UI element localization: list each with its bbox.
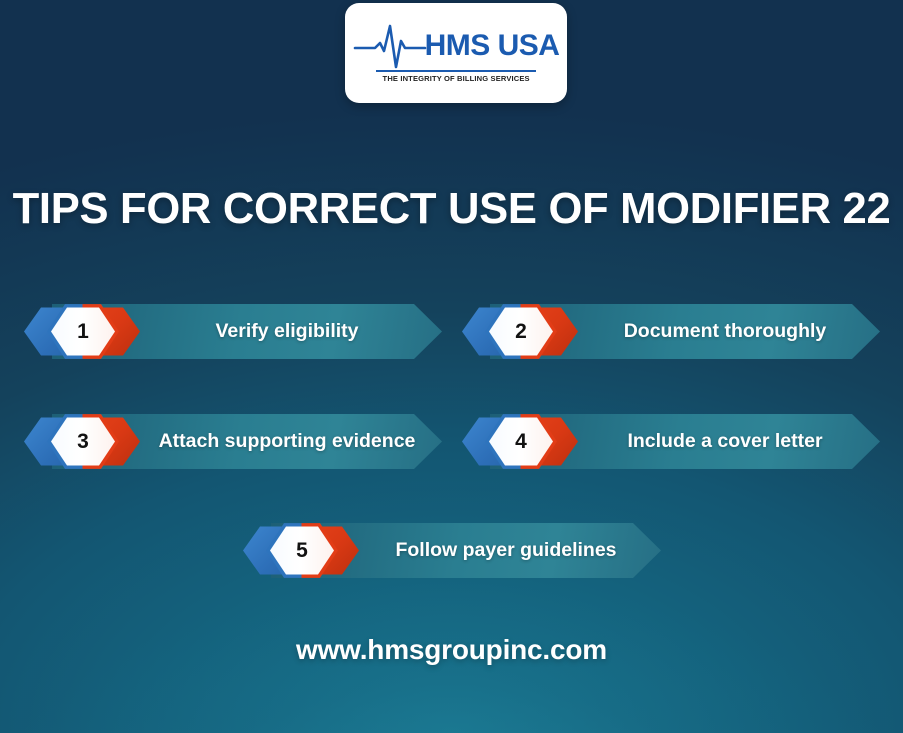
tip-label: Verify eligibility xyxy=(144,304,430,359)
tip-badge-4: 4 xyxy=(462,413,580,470)
logo-divider xyxy=(376,70,536,72)
tip-item-4[interactable]: 4 Include a cover letter xyxy=(462,414,880,469)
tips-list: 1 Verify eligibility 2 Document thorough… xyxy=(0,0,903,733)
hex-number-face: 3 xyxy=(51,417,115,467)
ekg-pulse-icon xyxy=(353,23,427,69)
tip-number: 5 xyxy=(296,540,308,561)
tip-number: 2 xyxy=(515,321,527,342)
tip-label: Include a cover letter xyxy=(582,414,868,469)
hex-number-face: 5 xyxy=(270,526,334,576)
tip-label: Follow payer guidelines xyxy=(363,523,649,578)
footer-website-url[interactable]: www.hmsgroupinc.com xyxy=(0,634,903,666)
page-title: TIPS FOR CORRECT USE OF MODIFIER 22 xyxy=(5,184,899,234)
tip-number: 3 xyxy=(77,431,89,452)
hex-number-face: 1 xyxy=(51,307,115,357)
tip-label: Attach supporting evidence xyxy=(144,414,430,469)
tip-badge-1: 1 xyxy=(24,303,142,360)
hex-number-face: 2 xyxy=(489,307,553,357)
tip-item-2[interactable]: 2 Document thoroughly xyxy=(462,304,880,359)
infographic-canvas: HMS USA THE INTEGRITY OF BILLING SERVICE… xyxy=(0,0,903,733)
tip-badge-2: 2 xyxy=(462,303,580,360)
tip-number: 1 xyxy=(77,321,89,342)
tip-label: Document thoroughly xyxy=(582,304,868,359)
tip-item-5[interactable]: 5 Follow payer guidelines xyxy=(243,523,661,578)
tip-item-3[interactable]: 3 Attach supporting evidence xyxy=(24,414,442,469)
tip-item-1[interactable]: 1 Verify eligibility xyxy=(24,304,442,359)
logo-tagline: THE INTEGRITY OF BILLING SERVICES xyxy=(382,74,529,83)
brand-logo-card: HMS USA THE INTEGRITY OF BILLING SERVICE… xyxy=(345,3,567,103)
logo-wordmark: HMS USA xyxy=(425,31,560,61)
brand-logo: HMS USA THE INTEGRITY OF BILLING SERVICE… xyxy=(358,23,554,83)
logo-primary-row: HMS USA xyxy=(358,23,554,69)
tip-number: 4 xyxy=(515,431,527,452)
hex-number-face: 4 xyxy=(489,417,553,467)
tip-badge-3: 3 xyxy=(24,413,142,470)
tip-badge-5: 5 xyxy=(243,522,361,579)
